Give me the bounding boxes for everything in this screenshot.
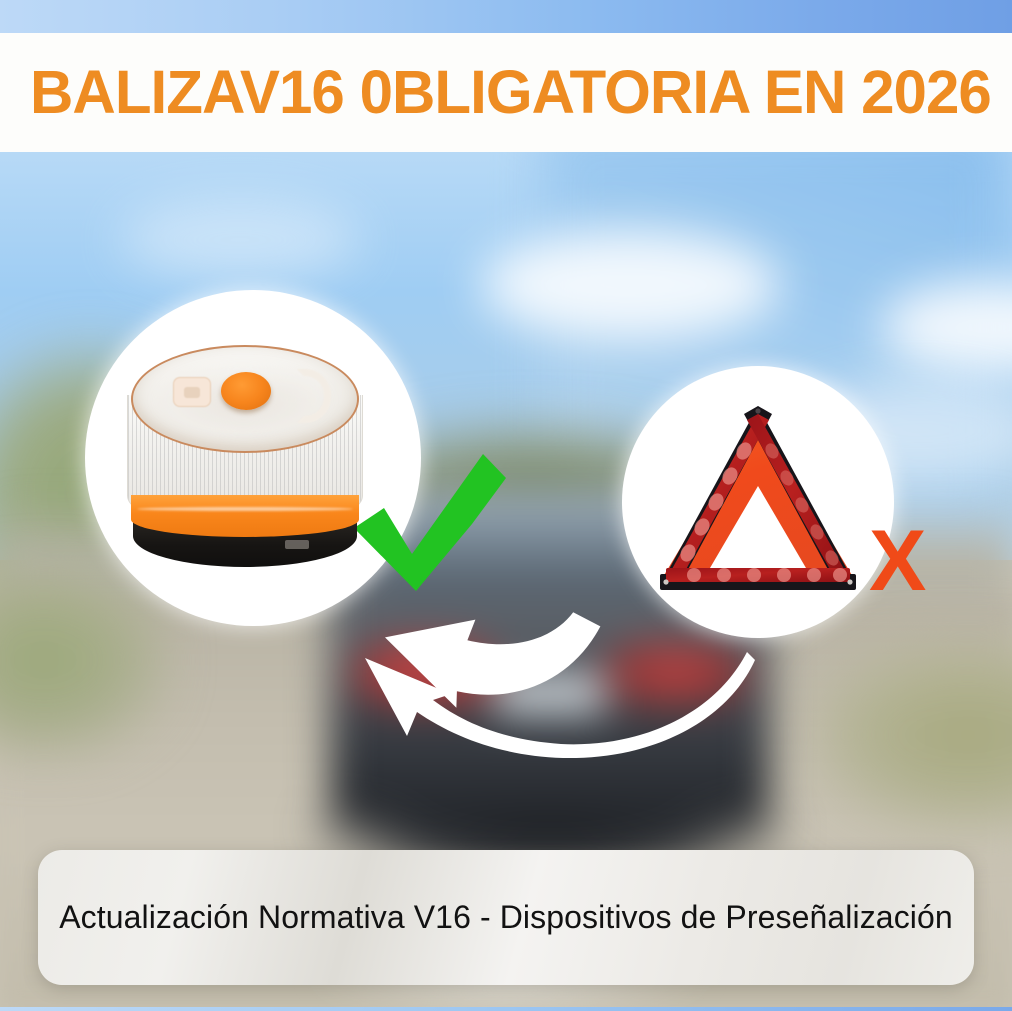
curved-arrow-svg bbox=[355, 608, 755, 758]
beacon-led-module bbox=[173, 377, 211, 407]
caption-box: Actualización Normativa V16 - Dispositiv… bbox=[38, 850, 974, 985]
caption-text: Actualización Normativa V16 - Dispositiv… bbox=[59, 899, 953, 936]
v16-beacon-icon bbox=[125, 345, 365, 570]
check-mark-icon bbox=[350, 450, 510, 595]
beacon-band-highlight bbox=[137, 507, 353, 511]
page-title: BALIZAV16 0BLIGATORIA EN 2026 bbox=[30, 62, 991, 123]
bottom-blue-strip bbox=[0, 1007, 1012, 1011]
beacon-power-button bbox=[221, 372, 271, 410]
title-band: BALIZAV16 0BLIGATORIA EN 2026 bbox=[0, 33, 1012, 152]
top-blue-strip bbox=[0, 0, 1012, 33]
check-mark-svg bbox=[350, 450, 510, 595]
grass-left bbox=[0, 560, 170, 760]
beacon-base-marking bbox=[285, 540, 309, 549]
warning-triangle-svg bbox=[648, 396, 872, 596]
poster-canvas: BALIZAV16 0BLIGATORIA EN 2026 bbox=[0, 0, 1012, 1011]
beacon-orange-band bbox=[131, 495, 359, 537]
cloud-icon bbox=[480, 230, 780, 340]
curved-arrow-icon bbox=[355, 608, 755, 758]
cloud-icon bbox=[120, 200, 360, 280]
cross-mark-icon: X bbox=[869, 518, 926, 604]
warning-triangle-icon bbox=[648, 396, 872, 596]
grass-right bbox=[812, 640, 1012, 830]
